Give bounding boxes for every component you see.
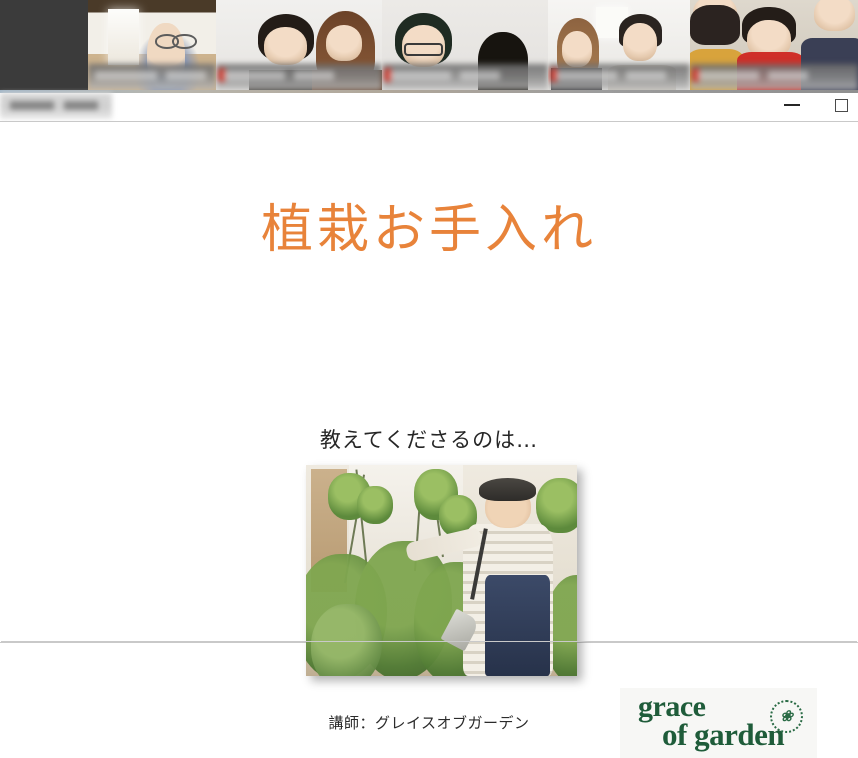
participant-name-label: [690, 64, 858, 90]
participant-name-label: [216, 64, 382, 90]
maximize-icon: [835, 99, 848, 112]
video-tile-5[interactable]: [690, 0, 858, 90]
instructor-photo: [306, 465, 577, 676]
slide-title: 植栽お手入れ: [0, 202, 858, 259]
video-tile-3[interactable]: [382, 0, 548, 90]
video-tile-4[interactable]: [548, 0, 690, 90]
presentation-window: 植栽お手入れ 教えてくださるのは…: [0, 90, 858, 643]
slide-subtitle: 教えてくださるのは…: [0, 424, 858, 454]
participant-name-label: [88, 64, 216, 90]
window-title-bar: [0, 90, 858, 122]
screen-share-border: [0, 90, 858, 93]
slide-canvas: 植栽お手入れ 教えてくださるのは…: [0, 122, 858, 642]
wreath-emblem-icon: ❀: [770, 700, 803, 733]
minimize-icon: [784, 104, 800, 106]
minimize-button[interactable]: [769, 90, 815, 120]
slide-frame: 植栽お手入れ 教えてくださるのは…: [0, 121, 858, 643]
video-filmstrip: [0, 0, 858, 90]
participant-name-label: [548, 64, 690, 90]
participant-name-label: [382, 64, 548, 90]
logo-line-2: of garden: [630, 720, 790, 750]
video-tile-2[interactable]: [216, 0, 382, 90]
maximize-button[interactable]: [818, 90, 858, 120]
participant-face: [172, 34, 196, 48]
video-tile-gap-left: [0, 0, 88, 90]
logo-line-1: grace: [630, 693, 790, 722]
window-title-label: [0, 93, 112, 119]
grace-of-garden-logo: grace of garden ❀: [620, 688, 817, 758]
video-tile-1[interactable]: [88, 0, 216, 90]
